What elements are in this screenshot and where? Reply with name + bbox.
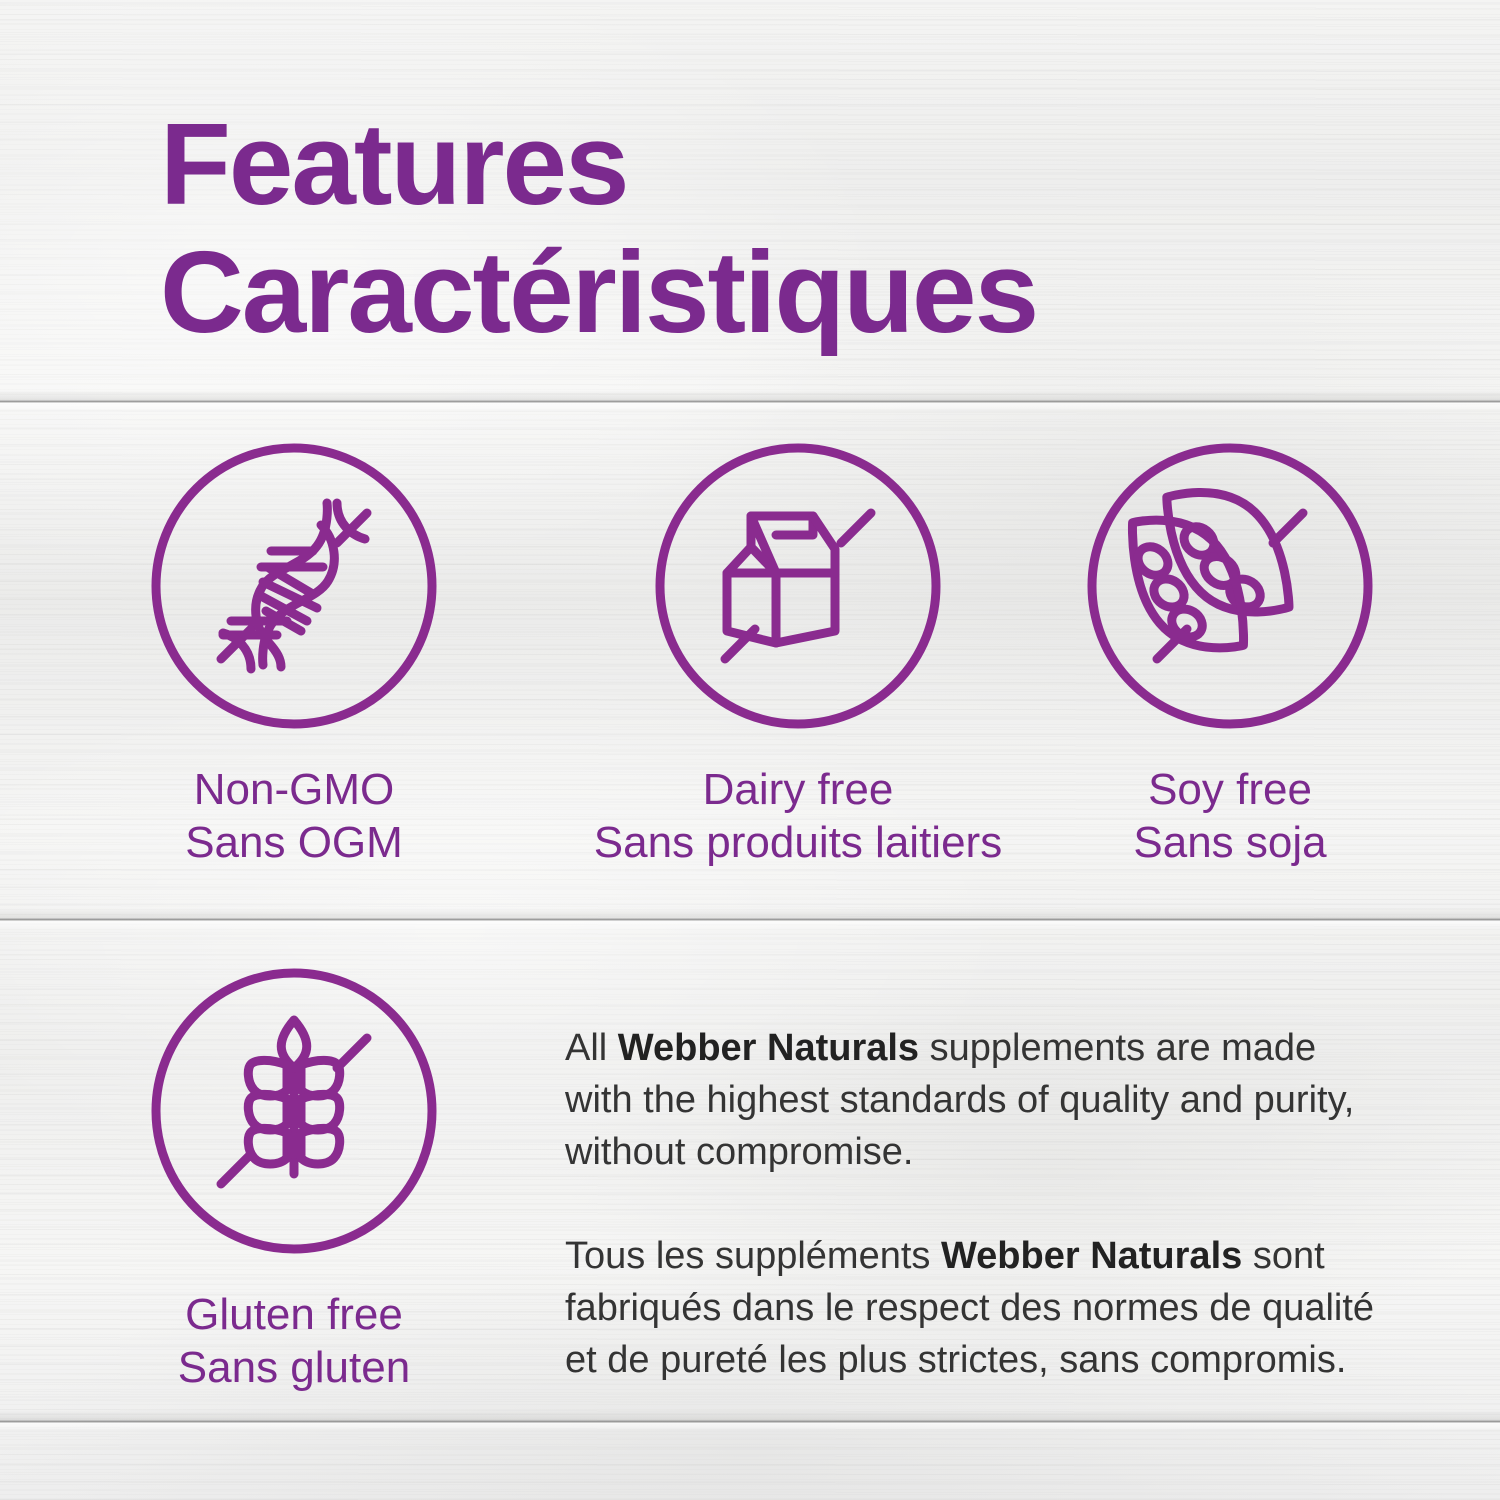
- feature-label-fr: Sans OGM: [94, 816, 494, 869]
- feature-label-fr: Sans soja: [1030, 816, 1430, 869]
- feature-label-fr: Sans gluten: [94, 1341, 494, 1394]
- no-dairy-milk-carton-icon: [655, 443, 941, 729]
- feature-label-en: Gluten free: [94, 1288, 494, 1341]
- copy-en-before-brand: All: [565, 1027, 618, 1069]
- brand-name: Webber Naturals: [941, 1235, 1242, 1277]
- copy-fr-before-brand: Tous les suppléments: [565, 1235, 941, 1277]
- feature-label-non-gmo: Non-GMO Sans OGM: [94, 763, 494, 869]
- feature-label-dairy-free: Dairy free Sans produits laitiers: [568, 763, 1028, 869]
- feature-label-fr: Sans produits laitiers: [568, 816, 1028, 869]
- page-title-fr: Caractéristiques: [160, 228, 1340, 356]
- quality-statement-en: All Webber Naturals supplements are made…: [565, 1022, 1375, 1178]
- feature-label-en: Dairy free: [568, 763, 1028, 816]
- feature-label-en: Non-GMO: [94, 763, 494, 816]
- feature-item-soy-free: Soy free Sans soja: [1030, 443, 1430, 869]
- feature-item-dairy-free: Dairy free Sans produits laitiers: [568, 443, 1028, 869]
- feature-label-gluten-free: Gluten free Sans gluten: [94, 1288, 494, 1394]
- feature-item-non-gmo: Non-GMO Sans OGM: [94, 443, 494, 869]
- feature-label-soy-free: Soy free Sans soja: [1030, 763, 1430, 869]
- page-title: Features Caractéristiques: [160, 100, 1340, 356]
- page-title-en: Features: [160, 100, 1340, 228]
- feature-item-gluten-free: Gluten free Sans gluten: [94, 968, 494, 1394]
- brand-name: Webber Naturals: [618, 1027, 919, 1069]
- no-gluten-wheat-icon: [151, 968, 437, 1254]
- feature-panel: Features Caractéristiques: [0, 0, 1500, 1500]
- quality-statement: All Webber Naturals supplements are made…: [565, 1022, 1375, 1386]
- no-soy-pods-icon: [1087, 443, 1373, 729]
- quality-statement-fr: Tous les suppléments Webber Naturals son…: [565, 1230, 1375, 1386]
- feature-label-en: Soy free: [1030, 763, 1430, 816]
- no-gmo-dna-icon: [151, 443, 437, 729]
